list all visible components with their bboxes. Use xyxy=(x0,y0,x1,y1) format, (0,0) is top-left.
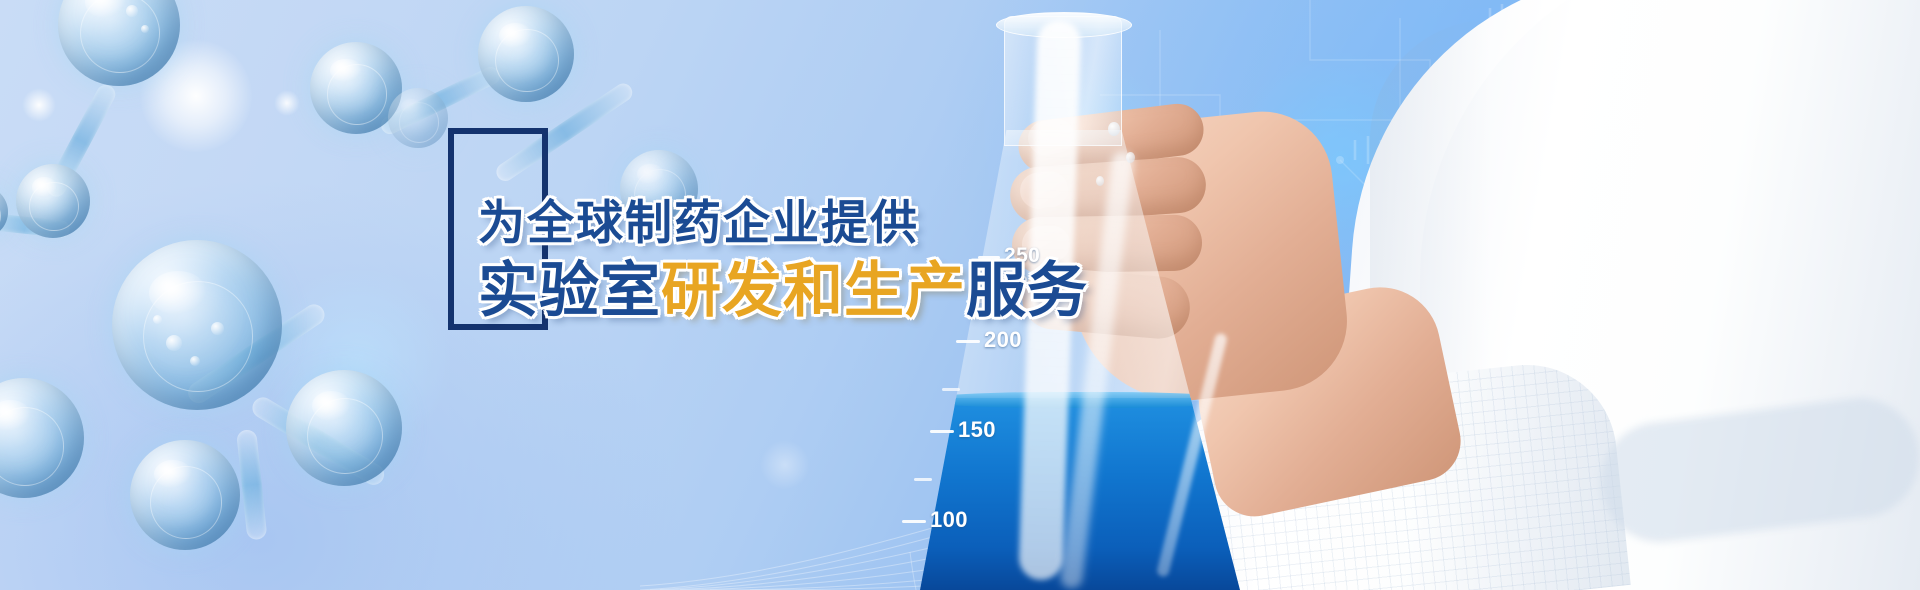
lab-coat-shading xyxy=(1370,20,1490,590)
lab-coat-sleeve xyxy=(1139,356,1630,590)
molecule-atom xyxy=(16,164,90,238)
atom-inner-ring xyxy=(29,182,78,231)
atom-inner-ring xyxy=(307,398,383,474)
molecule-atom xyxy=(130,440,240,550)
bokeh-dot xyxy=(760,440,810,490)
atom-inner-ring xyxy=(399,102,439,142)
atom-bubble xyxy=(190,356,200,366)
graduation-label-100: 100 xyxy=(930,507,968,533)
molecule-bond xyxy=(236,429,267,540)
headline-line2-segment-blue-1: 实验室 xyxy=(478,257,661,324)
molecule-atom xyxy=(0,186,8,238)
molecule-atom xyxy=(388,88,448,148)
wireframe-wave xyxy=(640,360,1920,590)
bokeh-dot xyxy=(1330,320,1440,430)
bokeh-dot xyxy=(258,270,458,450)
atom-inner-ring xyxy=(150,466,222,538)
atom-bubble xyxy=(166,335,182,351)
finger xyxy=(1016,101,1207,175)
lab-coat-body xyxy=(1328,0,1920,590)
hero-banner: 250 APPROX 200 150 100 为全球制药企业提供 实验室研发和生… xyxy=(0,0,1920,590)
water-droplet xyxy=(1108,122,1120,136)
flask-edge-highlight xyxy=(1156,332,1228,577)
fingernail xyxy=(1025,116,1076,157)
molecule-atom xyxy=(0,378,84,498)
lab-coat-sleeve-fold xyxy=(1594,391,1920,549)
atom-bubble xyxy=(141,25,149,33)
molecule-atom xyxy=(286,370,402,486)
atom-inner-ring xyxy=(0,407,64,486)
graduation-tick xyxy=(956,340,980,343)
bokeh-dot xyxy=(140,40,252,152)
molecule-bond xyxy=(378,64,503,137)
atom-inner-ring xyxy=(143,281,254,392)
flask-highlight xyxy=(1059,150,1134,589)
fingernail xyxy=(1018,170,1070,211)
molecule-atom xyxy=(478,6,574,102)
bokeh-dot xyxy=(274,90,300,116)
flask-neck xyxy=(1004,16,1122,146)
molecule-bond xyxy=(249,393,388,488)
water-droplet xyxy=(1126,152,1135,163)
liquid-surface xyxy=(920,392,1240,408)
atom-bubble xyxy=(153,315,162,324)
palm xyxy=(1056,105,1354,412)
molecule-bond xyxy=(0,212,70,238)
headline-line-2: 实验室研发和生产服务 xyxy=(478,242,1088,329)
circuit-network xyxy=(1100,0,1920,590)
water-droplet xyxy=(1096,176,1104,186)
atom-inner-ring xyxy=(80,0,160,73)
headline-line2-segment-blue-2: 服务 xyxy=(966,257,1088,324)
lab-coat-texture xyxy=(1139,356,1630,590)
atom-inner-ring xyxy=(495,29,558,92)
molecule-atom xyxy=(58,0,180,86)
atom-bubble xyxy=(211,322,224,335)
molecule-atom xyxy=(112,240,282,410)
headline-line2-segment-gold: 研发和生产 xyxy=(661,257,966,324)
bokeh-dot xyxy=(22,88,56,122)
molecule-bond xyxy=(44,82,119,200)
bokeh-dot xyxy=(1470,100,1650,280)
liquid-body xyxy=(920,398,1240,590)
headline-block: 为全球制药企业提供 实验室研发和生产服务 xyxy=(448,128,988,338)
lab-coat-shoulder xyxy=(1420,0,1920,590)
graduation-tick xyxy=(942,388,960,391)
graduation-tick xyxy=(914,478,932,481)
bokeh-dot xyxy=(1020,60,1170,210)
molecule-bond xyxy=(184,300,328,407)
graduation-tick xyxy=(902,520,926,523)
bokeh-dot xyxy=(1230,50,1450,270)
atom-inner-ring xyxy=(327,64,388,125)
atom-inner-ring xyxy=(0,198,1,233)
forearm xyxy=(1182,276,1468,524)
graduation-label-200: 200 xyxy=(984,327,1022,353)
atom-bubble xyxy=(126,5,138,17)
graduation-label-150: 150 xyxy=(958,417,996,443)
molecule-atom xyxy=(310,42,402,134)
graduation-tick xyxy=(930,430,954,433)
finger xyxy=(1008,155,1207,225)
flask-rim xyxy=(996,12,1132,38)
